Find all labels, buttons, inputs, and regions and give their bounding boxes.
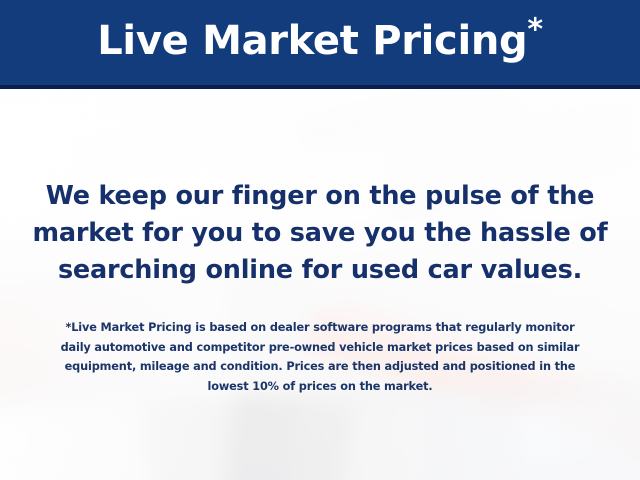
headline-line: We keep our finger on the pulse of the <box>0 178 640 215</box>
disclaimer-line: *Live Market Pricing is based on dealer … <box>20 318 620 338</box>
page-title-text: Live Market Pricing <box>97 18 527 64</box>
headline-text: We keep our finger on the pulse of the m… <box>0 178 640 289</box>
disclaimer-line: equipment, mileage and condition. Prices… <box>20 357 620 377</box>
disclaimer-line: daily automotive and competitor pre-owne… <box>20 338 620 358</box>
live-market-pricing-promo-card: Live Market Pricing* We keep our finger … <box>0 0 640 480</box>
page-title-asterisk: * <box>527 12 542 47</box>
headline-line: searching online for used car values. <box>0 252 640 289</box>
headline-line: market for you to save you the hassle of <box>0 215 640 252</box>
disclaimer-text: *Live Market Pricing is based on dealer … <box>20 318 620 396</box>
page-title: Live Market Pricing* <box>97 21 543 65</box>
header-banner: Live Market Pricing* <box>0 0 640 89</box>
disclaimer-line: lowest 10% of prices on the market. <box>20 377 620 397</box>
